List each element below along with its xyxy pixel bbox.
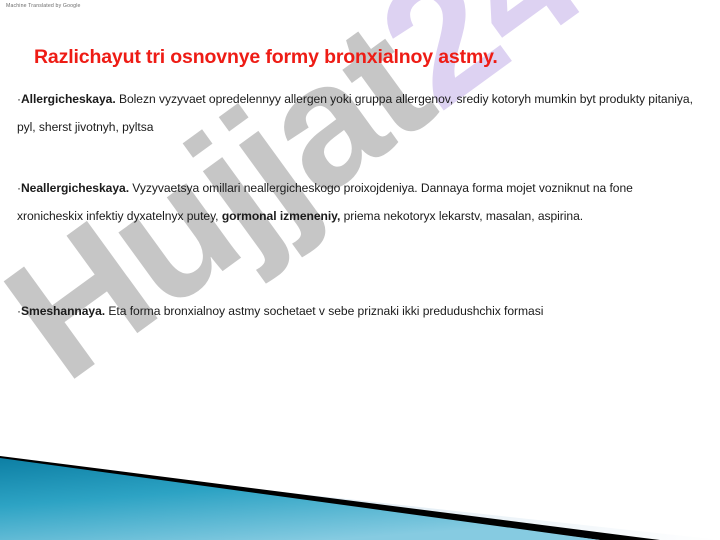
bullet-paragraph-allergic: ·Allergicheskaya. Bolezn vyzyvaet oprede… — [17, 85, 697, 141]
slide-content: Machine Translated by Google Razlichayut… — [0, 0, 720, 540]
bullet-lead-label: Smeshannaya. — [21, 304, 105, 318]
machine-translation-banner: Machine Translated by Google — [6, 3, 81, 10]
bullet-emphasis-text: gormonal izmeneniy, — [222, 209, 340, 223]
bullet-body-text-continued: priema nekotoryx lekarstv, masalan, aspi… — [340, 209, 583, 223]
bullet-paragraph-nonallergic: ·Neallergicheskaya. Vyzyvaetsya omillari… — [17, 174, 697, 230]
bullet-lead-label: Neallergicheskaya. — [21, 181, 129, 195]
bullet-lead-label: Allergicheskaya. — [21, 92, 116, 106]
page-title: Razlichayut tri osnovnye formy bronxialn… — [34, 45, 684, 69]
slide-canvas: Hujjat24 Machine Translated by Google Ra… — [0, 0, 720, 540]
bullet-paragraph-mixed: ·Smeshannaya. Eta forma bronxialnoy astm… — [17, 297, 697, 325]
bullet-body-text: Eta forma bronxialnoy astmy sochetaet v … — [105, 304, 543, 318]
bullet-body-text: Bolezn vyzyvaet opredelennyy allergen yo… — [17, 92, 693, 134]
